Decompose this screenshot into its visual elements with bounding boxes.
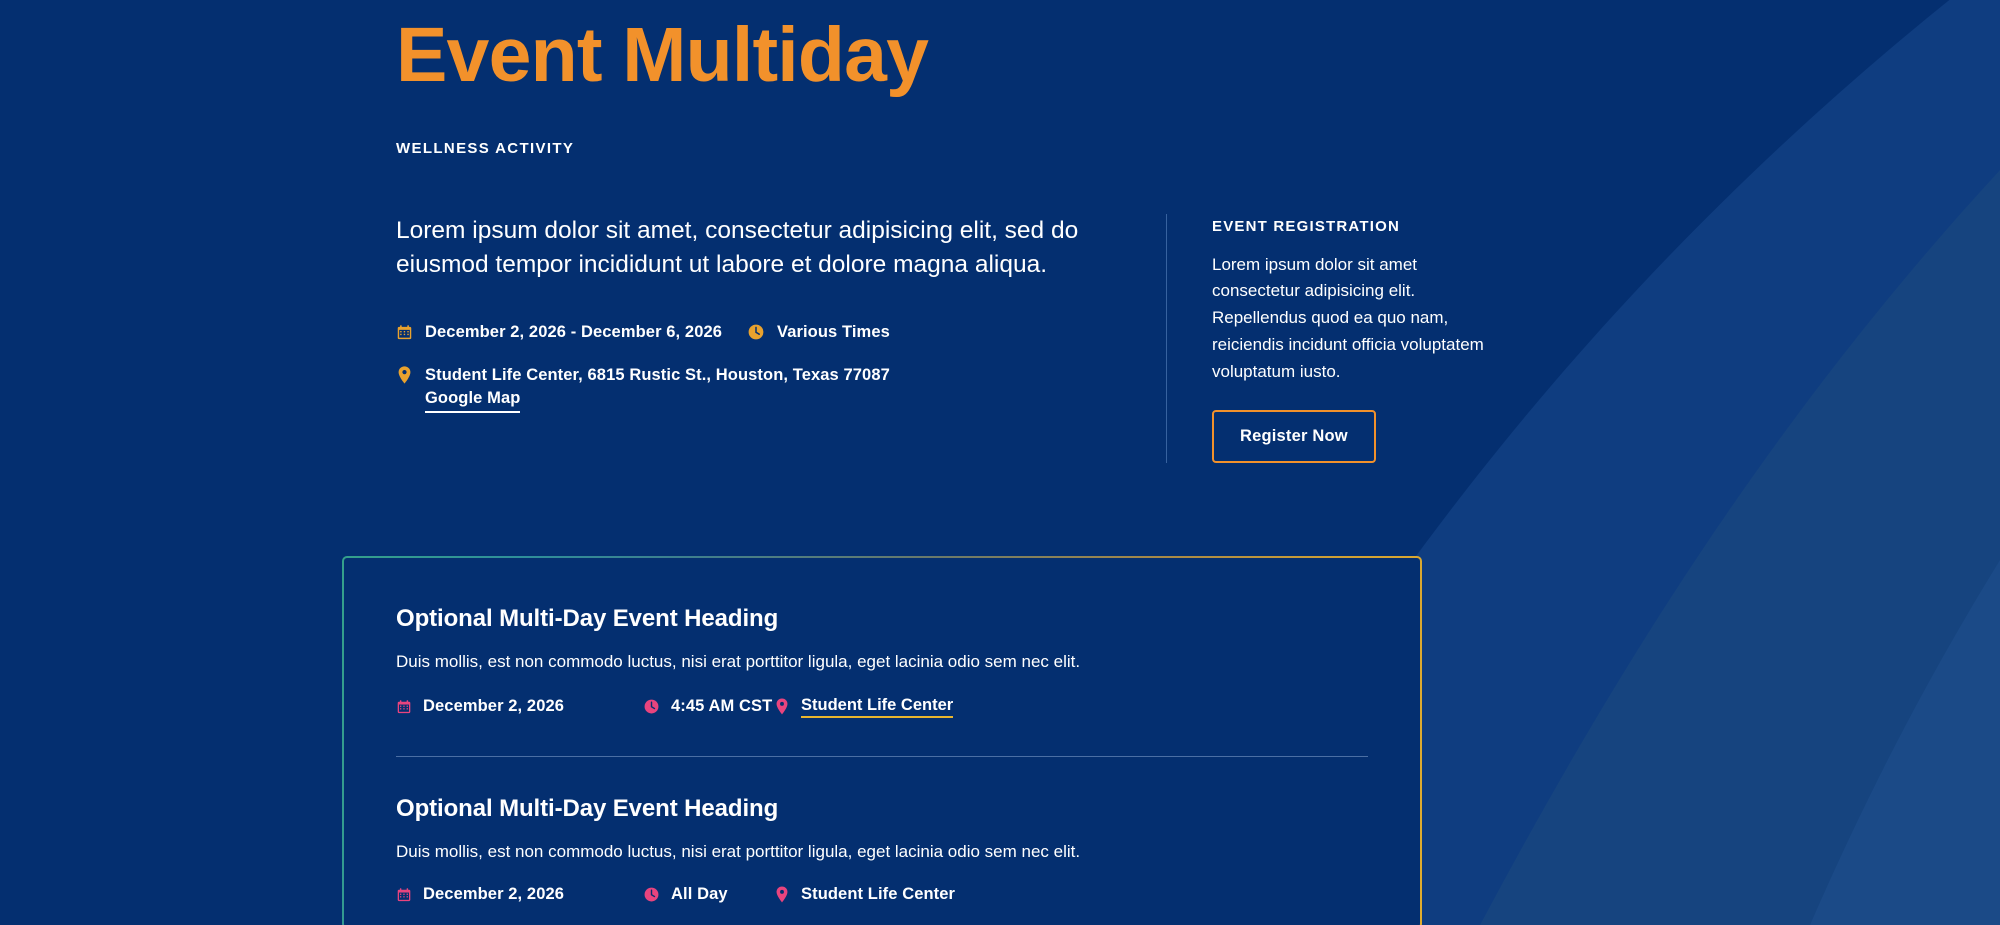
clock-icon [748,322,764,342]
page-title: Event Multiday [396,16,1516,95]
registration-heading: EVENT REGISTRATION [1212,218,1516,235]
clock-icon [644,698,659,716]
event-meta-row-location: Student Life Center, 6815 Rustic St., Ho… [396,364,1106,414]
multiday-location-item: Student Life Center [774,696,953,718]
content-wrapper: Event Multiday WELLNESS ACTIVITY Lorem i… [396,0,1516,463]
event-description: Lorem ipsum dolor sit amet, consectetur … [396,214,1106,284]
event-page: Event Multiday WELLNESS ACTIVITY Lorem i… [0,0,2000,925]
map-pin-icon [396,365,412,385]
multiday-time-item: All Day [644,885,774,904]
multiday-date-item: December 2, 2026 [396,697,644,716]
event-location-text: Student Life Center, 6815 Rustic St., Ho… [425,366,890,384]
event-registration-panel: EVENT REGISTRATION Lorem ipsum dolor sit… [1166,214,1516,463]
multiday-time-text: 4:45 AM CST [671,697,772,716]
registration-body: Lorem ipsum dolor sit amet consectetur a… [1212,252,1490,386]
event-details-column: Lorem ipsum dolor sit amet, consectetur … [396,214,1166,463]
event-date-text: December 2, 2026 - December 6, 2026 [425,321,722,344]
multiday-event-card: Optional Multi-Day Event Heading Duis mo… [342,556,1422,925]
calendar-icon [396,698,411,716]
multiday-entry: Optional Multi-Day Event Heading Duis mo… [396,757,1368,905]
multiday-entry-description: Duis mollis, est non commodo luctus, nis… [396,649,1368,675]
multiday-entry-heading: Optional Multi-Day Event Heading [396,795,1368,823]
event-time-text: Various Times [777,321,890,344]
multiday-date-text: December 2, 2026 [423,697,564,716]
calendar-icon [396,886,411,904]
event-meta-list: December 2, 2026 - December 6, 2026 Vari… [396,321,1106,413]
detail-columns: Lorem ipsum dolor sit amet, consectetur … [396,214,1516,463]
multiday-entry: Optional Multi-Day Event Heading Duis mo… [396,605,1368,718]
multiday-time-text: All Day [671,885,728,904]
event-location-item: Student Life Center, 6815 Rustic St., Ho… [396,364,890,414]
event-date-item: December 2, 2026 - December 6, 2026 [396,321,748,344]
clock-icon [644,886,659,904]
multiday-location-item: Student Life Center [774,885,955,904]
calendar-icon [396,322,412,342]
register-now-button[interactable]: Register Now [1212,410,1376,463]
multiday-entry-description: Duis mollis, est non commodo luctus, nis… [396,839,1368,865]
event-time-item: Various Times [748,321,890,344]
multiday-entry-meta: December 2, 2026 4:45 AM CST [396,696,1368,718]
multiday-time-item: 4:45 AM CST [644,697,774,716]
map-pin-icon [774,698,789,716]
map-pin-icon [774,886,789,904]
multiday-date-text: December 2, 2026 [423,885,564,904]
multiday-entry-meta: December 2, 2026 All Day [396,885,1368,904]
event-meta-row-datetime: December 2, 2026 - December 6, 2026 Vari… [396,321,1106,344]
multiday-location-text: Student Life Center [801,885,955,904]
google-map-link[interactable]: Google Map [425,387,520,413]
multiday-date-item: December 2, 2026 [396,885,644,904]
multiday-card-inner: Optional Multi-Day Event Heading Duis mo… [344,558,1420,925]
multiday-location-link[interactable]: Student Life Center [801,696,953,718]
multiday-entry-heading: Optional Multi-Day Event Heading [396,605,1368,633]
event-category-label: WELLNESS ACTIVITY [396,140,1516,157]
